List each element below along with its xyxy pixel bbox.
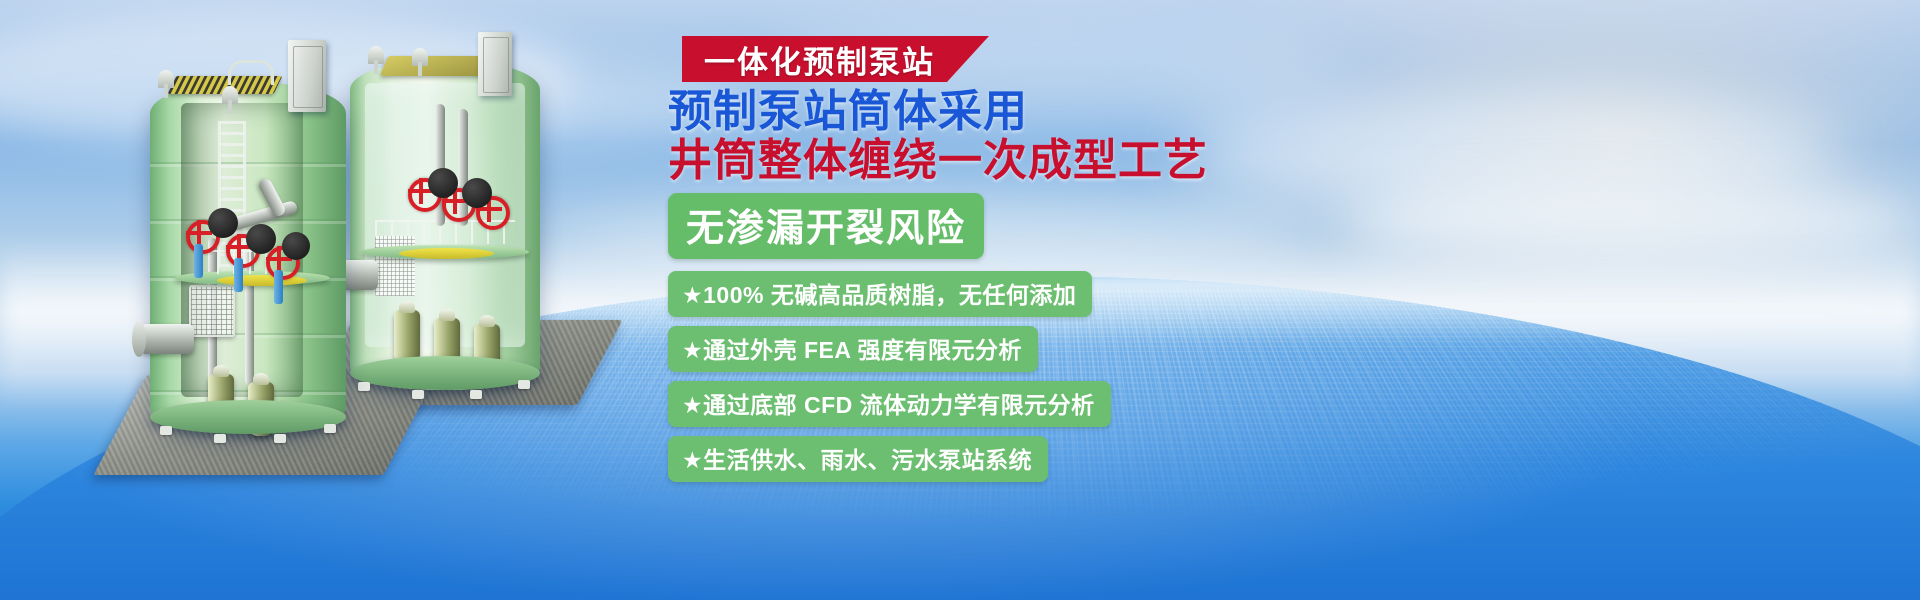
base-ring [150, 400, 346, 434]
product-banner: 一体化预制泵站 预制泵站筒体采用 井筒整体缠绕一次成型工艺 无渗漏开裂风险 ★1… [0, 0, 1920, 600]
headline-secondary: 井筒整体缠绕一次成型工艺 [668, 136, 1428, 185]
lifting-hooks-icon [228, 60, 274, 85]
valve-stem [274, 270, 283, 304]
pump-station-unit-right [350, 60, 540, 390]
anchor-foot [274, 434, 286, 443]
pipe-joint [246, 224, 276, 254]
vent-icon [158, 70, 174, 88]
screening-basket [189, 285, 235, 337]
control-cabinet [478, 32, 512, 96]
headline-primary: 预制泵站筒体采用 [668, 88, 1428, 136]
pipe-joint [462, 178, 492, 208]
base-ring [350, 356, 540, 390]
feature-bullet-item: ★通过外壳 FEA 强度有限元分析 [668, 326, 1038, 372]
valve-stem [234, 258, 243, 292]
control-cabinet [288, 40, 326, 112]
pipe-joint [282, 232, 310, 260]
anchor-foot [214, 434, 226, 443]
inlet-pipe [140, 324, 194, 354]
feature-bullet-list: ★100% 无碱高品质树脂，无任何添加 ★通过外壳 FEA 强度有限元分析 ★通… [668, 271, 1428, 482]
banner-tag-wrapper: 一体化预制泵站 [668, 36, 1428, 82]
vent-icon [412, 48, 428, 66]
water-sparkle [564, 585, 1153, 600]
vent-icon [222, 86, 238, 104]
feature-bullet-item: ★100% 无碱高品质树脂，无任何添加 [668, 271, 1092, 317]
anchor-foot [470, 390, 482, 399]
pump-station-illustration [120, 20, 680, 490]
valve-stem [194, 244, 203, 278]
feature-bullet-item: ★通过底部 CFD 流体动力学有限元分析 [668, 381, 1111, 427]
anchor-foot [358, 382, 370, 391]
anchor-foot [412, 390, 424, 399]
product-category-tag: 一体化预制泵站 [682, 36, 989, 82]
pipe-joint [428, 168, 458, 198]
anchor-foot [324, 424, 336, 433]
banner-copy-block: 一体化预制泵站 预制泵站筒体采用 井筒整体缠绕一次成型工艺 无渗漏开裂风险 ★1… [668, 36, 1428, 482]
anchor-foot [518, 380, 530, 389]
pipe-joint [208, 208, 238, 238]
highlight-badge: 无渗漏开裂风险 [668, 193, 984, 259]
pump-station-unit-left [150, 82, 346, 432]
anchor-foot [160, 426, 172, 435]
vent-icon [368, 46, 384, 64]
feature-bullet-item: ★生活供水、雨水、污水泵站系统 [668, 436, 1048, 482]
